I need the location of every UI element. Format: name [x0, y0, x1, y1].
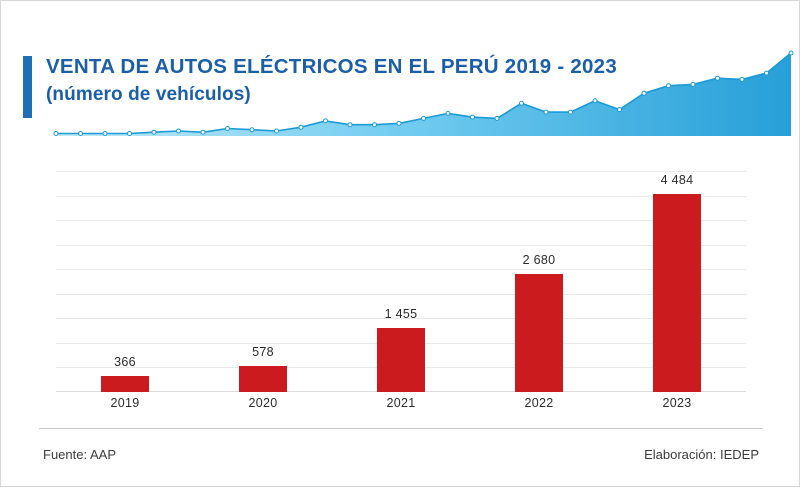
bars-container: 3665781 4552 6804 484 — [56, 171, 746, 392]
sparkline-point — [299, 125, 303, 129]
sparkline-point — [789, 51, 793, 55]
bar-value-label: 1 455 — [385, 307, 418, 321]
sparkline-point — [446, 111, 450, 115]
sparkline-point — [642, 91, 646, 95]
sparkline-point — [569, 110, 573, 114]
page-subtitle: (número de vehículos) — [46, 82, 617, 108]
sparkline-point — [226, 127, 230, 131]
bar[interactable] — [101, 376, 149, 392]
bar[interactable] — [377, 328, 425, 392]
x-axis-label: 2020 — [194, 396, 332, 410]
footer: Fuente: AAP Elaboración: IEDEP — [1, 428, 800, 486]
bar[interactable] — [653, 194, 701, 392]
sparkline-point — [201, 130, 205, 134]
bar-value-label: 2 680 — [523, 253, 556, 267]
bar-value-label: 366 — [114, 355, 136, 369]
sparkline-point — [495, 116, 499, 120]
sparkline-point — [177, 129, 181, 133]
plot-area: 3665781 4552 6804 484 — [56, 171, 746, 392]
header-banner: VENTA DE AUTOS ELÉCTRICOS EN EL PERÚ 201… — [1, 1, 800, 140]
page-title: VENTA DE AUTOS ELÉCTRICOS EN EL PERÚ 201… — [46, 54, 617, 80]
source-note: Fuente: AAP — [43, 447, 116, 462]
sparkline-point — [152, 130, 156, 134]
bar-value-label: 578 — [252, 345, 274, 359]
bar-group: 2 680 — [470, 171, 608, 392]
bar-group: 1 455 — [332, 171, 470, 392]
footer-divider — [39, 428, 763, 429]
sparkline-point — [250, 128, 254, 132]
elaboration-note: Elaboración: IEDEP — [644, 447, 759, 462]
sparkline-point — [544, 110, 548, 114]
sparkline-point — [471, 115, 475, 119]
bar[interactable] — [239, 366, 287, 392]
bar-group: 4 484 — [608, 171, 746, 392]
sparkline-point — [128, 132, 132, 136]
bar-group: 366 — [56, 171, 194, 392]
title-block: VENTA DE AUTOS ELÉCTRICOS EN EL PERÚ 201… — [46, 54, 617, 108]
sparkline-point — [373, 123, 377, 127]
sparkline-point — [422, 116, 426, 120]
sparkline-point — [275, 129, 279, 133]
sparkline-point — [79, 132, 83, 136]
title-accent-bar — [23, 56, 32, 118]
x-axis-label: 2021 — [332, 396, 470, 410]
x-axis-label: 2019 — [56, 396, 194, 410]
bar-group: 578 — [194, 171, 332, 392]
infographic-page: VENTA DE AUTOS ELÉCTRICOS EN EL PERÚ 201… — [0, 0, 800, 487]
sparkline-point — [324, 119, 328, 123]
sparkline-point — [618, 108, 622, 112]
sparkline-point — [765, 71, 769, 75]
x-axis-labels: 20192020202120222023 — [56, 396, 746, 418]
x-axis-label: 2022 — [470, 396, 608, 410]
x-axis-label: 2023 — [608, 396, 746, 410]
sparkline-point — [740, 77, 744, 81]
bar-chart: 3665781 4552 6804 484 201920202021202220… — [1, 140, 800, 430]
sparkline-point — [397, 121, 401, 125]
sparkline-point — [667, 84, 671, 88]
sparkline-point — [348, 123, 352, 127]
sparkline-point — [691, 82, 695, 86]
sparkline-point — [103, 132, 107, 136]
sparkline-point — [716, 76, 720, 80]
bar-value-label: 4 484 — [661, 173, 694, 187]
bar[interactable] — [515, 274, 563, 392]
sparkline-point — [54, 132, 58, 136]
